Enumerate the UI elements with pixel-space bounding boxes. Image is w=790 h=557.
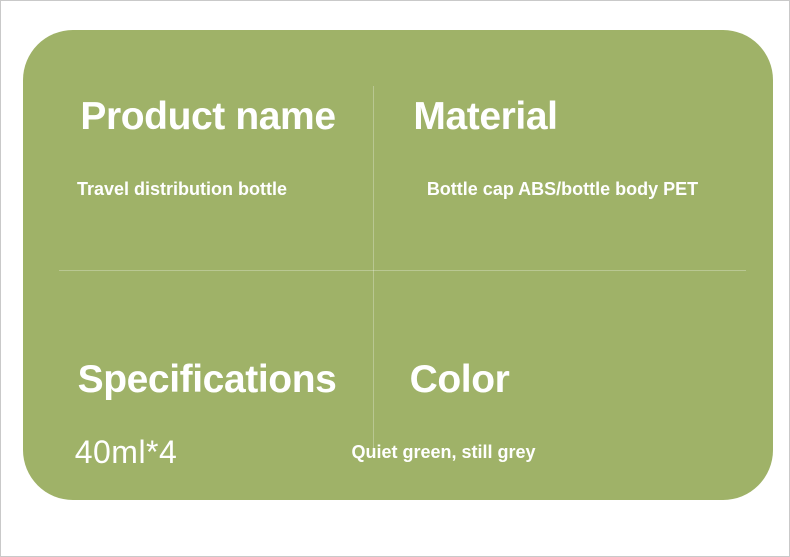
spec-cell-color: Color Quiet green, still grey — [374, 271, 773, 500]
product-spec-card: Product name Travel distribution bottle … — [23, 30, 773, 500]
product-spec-page: Product name Travel distribution bottle … — [0, 0, 790, 557]
spec-cell-material: Material Bottle cap ABS/bottle body PET — [374, 30, 773, 270]
spec-cell-product-name: Product name Travel distribution bottle — [23, 30, 373, 270]
spec-heading-color: Color — [260, 360, 659, 399]
spec-value-product-name: Travel distribution bottle — [23, 180, 357, 198]
spec-heading-material: Material — [286, 97, 685, 136]
spec-value-color: Quiet green, still grey — [244, 443, 643, 461]
spec-value-material: Bottle cap ABS/bottle body PET — [363, 180, 762, 198]
